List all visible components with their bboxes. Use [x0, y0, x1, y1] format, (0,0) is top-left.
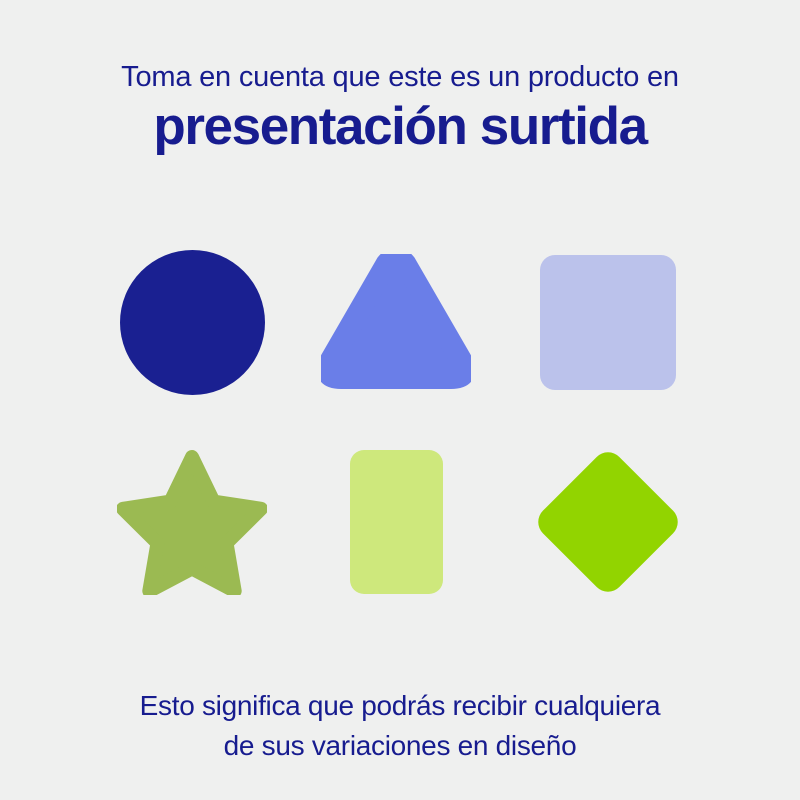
- shape-cell-triangle: [296, 237, 496, 407]
- shapes-grid: [0, 225, 800, 615]
- triangle-shape: [321, 254, 471, 390]
- caption-line-1: Esto significa que podrás recibir cualqu…: [0, 686, 800, 726]
- headline-title: presentación surtida: [0, 96, 800, 158]
- shape-cell-circle: [92, 237, 292, 407]
- rounded-square-shape: [540, 255, 676, 390]
- caption-block: Esto significa que podrás recibir cualqu…: [0, 686, 800, 766]
- star-shape: [117, 449, 267, 595]
- headline-block: Toma en cuenta que este es un producto e…: [0, 0, 800, 158]
- shape-cell-square: [508, 237, 708, 407]
- caption-line-2: de sus variaciones en diseño: [0, 726, 800, 766]
- triangle-path: [328, 258, 465, 378]
- circle-shape: [120, 250, 265, 395]
- rounded-rectangle-shape: [350, 450, 443, 594]
- headline-subtitle: Toma en cuenta que este es un producto e…: [0, 58, 800, 96]
- star-path: [123, 457, 261, 591]
- diamond-shape: [532, 446, 685, 599]
- shape-cell-star: [92, 437, 292, 607]
- assorted-presentation-poster: Toma en cuenta que este es un producto e…: [0, 0, 800, 800]
- shape-cell-diamond: [508, 437, 708, 607]
- shape-cell-rectangle: [296, 437, 496, 607]
